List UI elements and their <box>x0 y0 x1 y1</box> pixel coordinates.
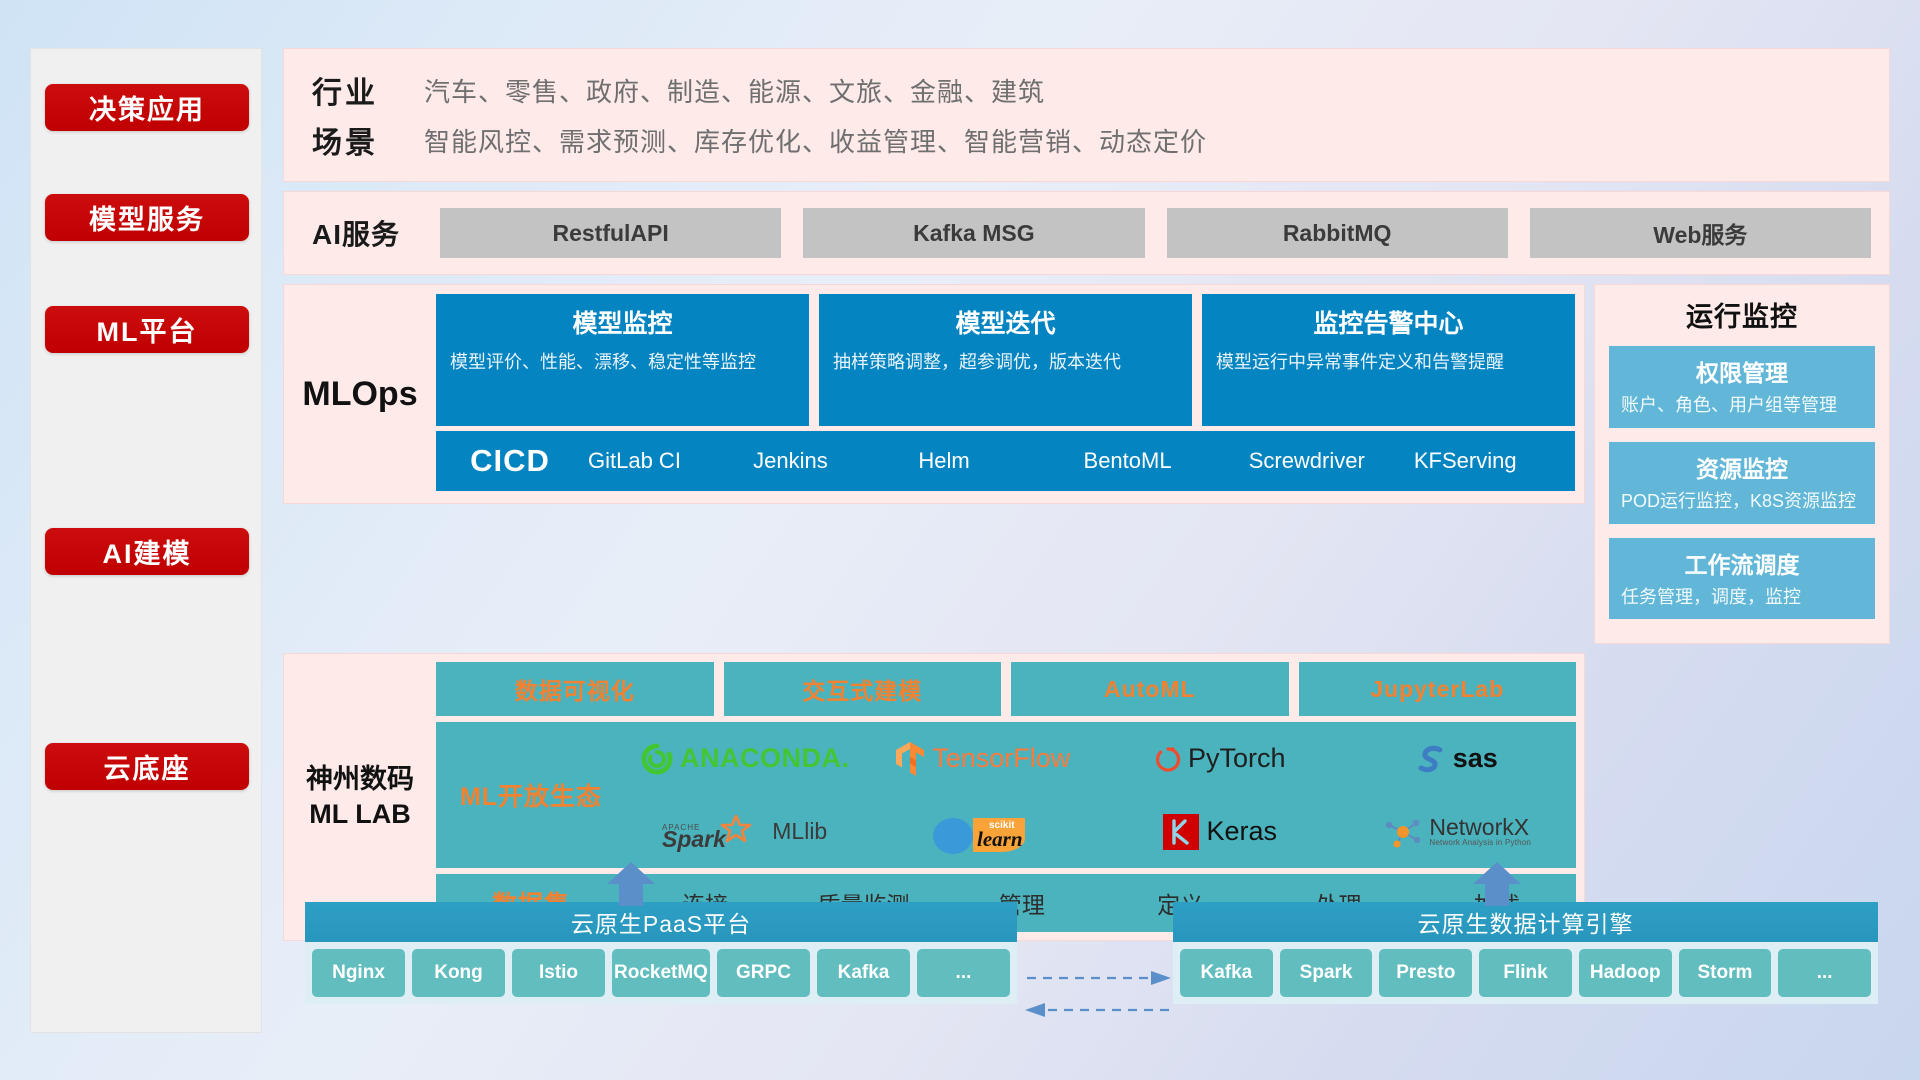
rail-label: AI建模 <box>103 532 192 571</box>
ai-service-chip-rabbitmq[interactable]: RabbitMQ <box>1167 208 1508 258</box>
cloud-data-engine-title: 云原生数据计算引擎 <box>1173 902 1878 942</box>
rail-item-model-service[interactable]: 模型服务 <box>45 194 249 241</box>
rail-label: ML平台 <box>97 310 198 349</box>
paas-chip-kong[interactable]: Kong <box>412 949 505 997</box>
panel-title: 运行监控 <box>1609 295 1875 334</box>
card-desc: 模型评价、性能、漂移、稳定性等监控 <box>450 350 795 374</box>
networkx-wordmark: NetworkX <box>1429 816 1531 839</box>
cicd-item-gitlab-ci[interactable]: GitLab CI <box>584 447 749 475</box>
cicd-item-screwdriver[interactable]: Screwdriver <box>1245 447 1410 475</box>
rail-label: 云底座 <box>104 747 191 786</box>
mllab-label-line2: ML LAB <box>309 797 411 832</box>
paas-chip-istio[interactable]: Istio <box>512 949 605 997</box>
rail-item-ai-modeling[interactable]: AI建模 <box>45 528 249 575</box>
data-chip-more[interactable]: ... <box>1778 949 1871 997</box>
ml-ecosystem-label: ML开放生态 <box>436 777 626 813</box>
arrow-up-data-engine-icon <box>1471 862 1523 906</box>
sas-wordmark: sas <box>1453 743 1498 774</box>
data-chip-kafka[interactable]: Kafka <box>1180 949 1273 997</box>
cicd-item-jenkins[interactable]: Jenkins <box>749 447 914 475</box>
cicd-title: CICD <box>436 443 584 479</box>
card-title: 模型监控 <box>450 304 795 340</box>
cloud-paas-block: 云原生PaaS平台 Nginx Kong Istio RocketMQ GRPC… <box>305 902 1017 1004</box>
keras-mark-icon <box>1162 813 1200 851</box>
data-chip-presto[interactable]: Presto <box>1379 949 1472 997</box>
cicd-item-helm[interactable]: Helm <box>914 447 1079 475</box>
spark-mllib-logo: APACHE Spark MLlib <box>662 812 827 852</box>
ai-service-chip-restfulapi[interactable]: RestfulAPI <box>440 208 781 258</box>
paas-chip-kafka[interactable]: Kafka <box>817 949 910 997</box>
anaconda-wordmark: ANACONDA. <box>680 743 850 774</box>
cicd-item-bentoml[interactable]: BentoML <box>1080 447 1245 475</box>
cloud-data-engine-block: 云原生数据计算引擎 Kafka Spark Presto Flink Hadoo… <box>1173 902 1878 1004</box>
card-title: 权限管理 <box>1621 354 1863 388</box>
scikit-learn-mark-icon: scikit learn <box>927 806 1037 858</box>
networkx-logo: NetworkX Network Analysis in Python <box>1383 813 1531 851</box>
tensorflow-logo: TensorFlow <box>894 740 1070 778</box>
row-ml-platform: MLOps 模型监控 模型评价、性能、漂移、稳定性等监控 模型迭代 抽样策略调整… <box>283 284 1890 644</box>
mlops-label: MLOps <box>284 294 436 494</box>
band-cloud-foundation: 云原生PaaS平台 Nginx Kong Istio RocketMQ GRPC… <box>283 880 1890 1035</box>
scikit-learn-logo: scikit learn <box>927 806 1037 858</box>
rail-label: 模型服务 <box>89 198 205 237</box>
mllib-wordmark: MLlib <box>772 818 827 845</box>
rail-item-cloud-base[interactable]: 云底座 <box>45 743 249 790</box>
data-chip-hadoop[interactable]: Hadoop <box>1579 949 1672 997</box>
paas-chip-nginx[interactable]: Nginx <box>312 949 405 997</box>
rail-label: 决策应用 <box>89 88 205 127</box>
ai-service-chip-kafka-msg[interactable]: Kafka MSG <box>803 208 1144 258</box>
layer-rail: 决策应用 模型服务 ML平台 AI建模 云底座 <box>30 48 262 1033</box>
cicd-item-kfserving[interactable]: KFServing <box>1410 447 1575 475</box>
mllab-tab-jupyterlab[interactable]: JupyterLab <box>1299 662 1577 716</box>
mlops-card-alert-center[interactable]: 监控告警中心 模型运行中异常事件定义和告警提醒 <box>1202 294 1575 426</box>
sas-mark-icon <box>1417 743 1447 775</box>
anaconda-logo: ANACONDA. <box>640 742 850 776</box>
sas-logo: sas <box>1417 743 1498 775</box>
ml-open-ecosystem-row: ML开放生态 ANACONDA. <box>436 722 1576 868</box>
mllab-tab-data-visualization[interactable]: 数据可视化 <box>436 662 714 716</box>
tensorflow-wordmark: TensorFlow <box>932 743 1070 774</box>
networkx-tagline: Network Analysis in Python <box>1429 839 1531 847</box>
anaconda-mark-icon <box>640 742 674 776</box>
card-desc: POD运行监控，K8S资源监控 <box>1621 490 1863 514</box>
spark-mark-icon: APACHE Spark <box>662 812 766 852</box>
monitor-card-permission[interactable]: 权限管理 账户、角色、用户组等管理 <box>1609 346 1875 428</box>
pytorch-wordmark: PyTorch <box>1188 743 1286 774</box>
band-mlops: MLOps 模型监控 模型评价、性能、漂移、稳定性等监控 模型迭代 抽样策略调整… <box>283 284 1585 504</box>
paas-chip-rocketmq[interactable]: RocketMQ <box>612 949 710 997</box>
card-desc: 模型运行中异常事件定义和告警提醒 <box>1216 350 1561 374</box>
rail-item-decision-apps[interactable]: 决策应用 <box>45 84 249 131</box>
scenario-row: 场景 智能风控、需求预测、库存优化、收益管理、智能营销、动态定价 <box>312 115 1889 165</box>
arrow-up-paas-icon <box>605 862 657 906</box>
tensorflow-mark-icon <box>894 740 926 778</box>
band-ai-service: AI服务 RestfulAPI Kafka MSG RabbitMQ Web服务 <box>283 191 1890 275</box>
ai-service-label: AI服务 <box>312 213 440 253</box>
industry-row: 行业 汽车、零售、政府、制造、能源、文旅、金融、建筑 <box>312 65 1889 115</box>
data-chip-spark[interactable]: Spark <box>1280 949 1373 997</box>
card-title: 监控告警中心 <box>1216 304 1561 340</box>
industry-label: 行业 <box>312 68 424 112</box>
card-desc: 账户、角色、用户组等管理 <box>1621 394 1863 418</box>
mllab-label-line1: 神州数码 <box>306 762 414 797</box>
industry-values: 汽车、零售、政府、制造、能源、文旅、金融、建筑 <box>424 72 1045 109</box>
monitor-card-workflow[interactable]: 工作流调度 任务管理，调度，监控 <box>1609 538 1875 620</box>
svg-text:learn: learn <box>977 827 1023 851</box>
panel-runtime-monitoring: 运行监控 权限管理 账户、角色、用户组等管理 资源监控 POD运行监控，K8S资… <box>1594 284 1890 644</box>
svg-text:Spark: Spark <box>662 826 727 852</box>
monitor-card-resource[interactable]: 资源监控 POD运行监控，K8S资源监控 <box>1609 442 1875 524</box>
rail-item-ml-platform[interactable]: ML平台 <box>45 306 249 353</box>
scenario-label: 场景 <box>312 118 424 162</box>
mlops-card-model-iteration[interactable]: 模型迭代 抽样策略调整，超参调优，版本迭代 <box>819 294 1192 426</box>
band-decision-applications: 行业 汽车、零售、政府、制造、能源、文旅、金融、建筑 场景 智能风控、需求预测、… <box>283 48 1890 182</box>
mllab-tab-automl[interactable]: AutoML <box>1011 662 1289 716</box>
card-title: 工作流调度 <box>1621 546 1863 580</box>
card-title: 资源监控 <box>1621 450 1863 484</box>
card-desc: 抽样策略调整，超参调优，版本迭代 <box>833 350 1178 374</box>
pytorch-mark-icon <box>1154 742 1182 776</box>
ai-service-chip-web-service[interactable]: Web服务 <box>1530 208 1871 258</box>
cicd-bar: CICD GitLab CI Jenkins Helm BentoML Scre… <box>436 431 1575 491</box>
paas-chip-more[interactable]: ... <box>917 949 1010 997</box>
keras-logo: Keras <box>1162 813 1277 851</box>
diagram-main: 行业 汽车、零售、政府、制造、能源、文旅、金融、建筑 场景 智能风控、需求预测、… <box>283 48 1890 941</box>
scenario-values: 智能风控、需求预测、库存优化、收益管理、智能营销、动态定价 <box>424 122 1207 159</box>
data-chip-flink[interactable]: Flink <box>1479 949 1572 997</box>
keras-wordmark: Keras <box>1206 816 1277 847</box>
cloud-paas-title: 云原生PaaS平台 <box>305 902 1017 942</box>
mlops-card-model-monitoring[interactable]: 模型监控 模型评价、性能、漂移、稳定性等监控 <box>436 294 809 426</box>
mllab-tab-interactive-modeling[interactable]: 交互式建模 <box>724 662 1002 716</box>
bidirectional-link <box>1023 964 1173 1024</box>
pytorch-logo: PyTorch <box>1154 742 1286 776</box>
paas-chip-grpc[interactable]: GRPC <box>717 949 810 997</box>
networkx-mark-icon <box>1383 813 1423 851</box>
data-chip-storm[interactable]: Storm <box>1679 949 1772 997</box>
card-desc: 任务管理，调度，监控 <box>1621 586 1863 610</box>
card-title: 模型迭代 <box>833 304 1178 340</box>
